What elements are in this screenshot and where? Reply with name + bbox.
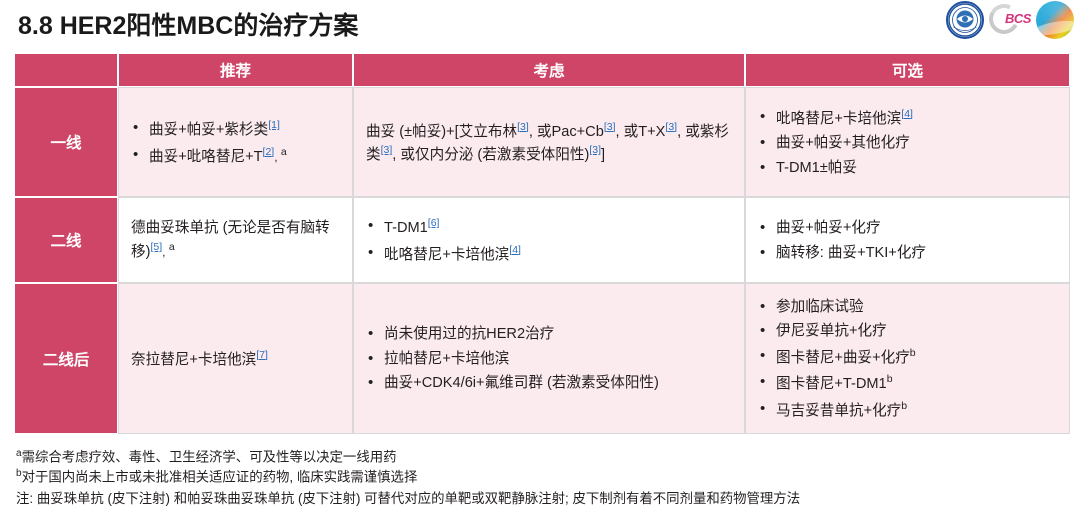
footnote-marker: b	[901, 400, 907, 412]
page-title: 8.8 HER2阳性MBC的治疗方案	[18, 6, 358, 42]
list-item: 参加临床试验	[758, 297, 1057, 319]
header-stage	[14, 53, 118, 87]
row-stage-label: 二线后	[14, 283, 118, 434]
bullet-list: 尚未使用过的抗HER2治疗 拉帕替尼+卡培他滨 曲妥+CDK4/6i+氟维司群 …	[366, 324, 732, 395]
list-item: T-DM1[6]	[366, 216, 732, 239]
reference-marker: [3]	[604, 121, 616, 133]
list-item: 图卡替尼+曲妥+化疗b	[758, 346, 1057, 369]
list-item: 马吉妥昔单抗+化疗b	[758, 399, 1057, 422]
header-optional: 可选	[745, 53, 1070, 87]
list-item: 曲妥+帕妥+紫杉类[1]	[131, 118, 340, 141]
recommended-paragraph: 德曲妥珠单抗 (无论是否有脑转移)[5], a	[131, 218, 340, 263]
bcs-logo: BCS	[989, 1, 1031, 39]
bullet-list: 曲妥+帕妥+紫杉类[1] 曲妥+吡咯替尼+T[2], a	[131, 118, 340, 168]
bcs-logo-label: BCS	[1005, 11, 1031, 26]
table-row: 二线 德曲妥珠单抗 (无论是否有脑转移)[5], a T-DM1[6] 吡咯替尼…	[14, 197, 1070, 283]
list-item: 曲妥+帕妥+其他化疗	[758, 133, 1057, 155]
cell-consider: 曲妥 (±帕妥)+[艾立布林[3], 或Pac+Cb[3], 或T+X[3], …	[353, 87, 745, 197]
footnote-marker: a	[281, 146, 287, 158]
bullet-list: T-DM1[6] 吡咯替尼+卡培他滨[4]	[366, 216, 732, 266]
header-consider: 考虑	[353, 53, 745, 87]
logo-group: BCS	[946, 1, 1074, 39]
footnotes-block: a需综合考虑疗效、毒性、卫生经济学、可及性等以决定一线用药 b对于国内尚未上市或…	[16, 447, 1066, 486]
reference-marker: [3]	[517, 121, 529, 133]
reference-marker: [3]	[665, 121, 677, 133]
title-bar: 8.8 HER2阳性MBC的治疗方案 BCS	[0, 0, 1080, 52]
treatment-table: 推荐 考虑 可选 一线 曲妥+帕妥+紫杉类[1] 曲妥+吡咯替尼+T[2], a…	[14, 53, 1070, 434]
reference-marker: [3]	[589, 144, 601, 156]
reference-marker: [6]	[428, 217, 440, 229]
general-note: 注: 曲妥珠单抗 (皮下注射) 和帕妥珠曲妥珠单抗 (皮下注射) 可替代对应的单…	[16, 490, 800, 509]
list-item: 吡咯替尼+卡培他滨[4]	[366, 243, 732, 266]
footnote-marker: b	[887, 373, 893, 385]
cell-recommended: 奈拉替尼+卡培他滨[7]	[118, 283, 353, 434]
cell-optional: 曲妥+帕妥+化疗 脑转移: 曲妥+TKI+化疗	[745, 197, 1070, 283]
cell-recommended: 德曲妥珠单抗 (无论是否有脑转移)[5], a	[118, 197, 353, 283]
list-item: 图卡替尼+T-DM1b	[758, 372, 1057, 395]
reference-marker: [3]	[381, 144, 393, 156]
cell-recommended: 曲妥+帕妥+紫杉类[1] 曲妥+吡咯替尼+T[2], a	[118, 87, 353, 197]
reference-marker: [7]	[256, 349, 268, 361]
reference-marker: [4]	[509, 244, 521, 256]
bullet-list: 吡咯替尼+卡培他滨[4] 曲妥+帕妥+其他化疗 T-DM1±帕妥	[758, 107, 1057, 180]
consider-paragraph: 曲妥 (±帕妥)+[艾立布林[3], 或Pac+Cb[3], 或T+X[3], …	[366, 120, 732, 167]
bullet-list: 曲妥+帕妥+化疗 脑转移: 曲妥+TKI+化疗	[758, 218, 1057, 264]
list-item: 吡咯替尼+卡培他滨[4]	[758, 107, 1057, 130]
caca-emblem-logo	[946, 1, 984, 39]
table-row: 一线 曲妥+帕妥+紫杉类[1] 曲妥+吡咯替尼+T[2], a 曲妥 (±帕妥)…	[14, 87, 1070, 197]
recommended-paragraph: 奈拉替尼+卡培他滨[7]	[131, 348, 340, 371]
list-item: 伊尼妥单抗+化疗	[758, 321, 1057, 343]
reference-marker: [1]	[268, 119, 280, 131]
cell-optional: 参加临床试验 伊尼妥单抗+化疗 图卡替尼+曲妥+化疗b 图卡替尼+T-DM1b …	[745, 283, 1070, 434]
list-item: 曲妥+帕妥+化疗	[758, 218, 1057, 240]
table-row: 二线后 奈拉替尼+卡培他滨[7] 尚未使用过的抗HER2治疗 拉帕替尼+卡培他滨…	[14, 283, 1070, 434]
footnote-a: a需综合考虑疗效、毒性、卫生经济学、可及性等以决定一线用药	[16, 447, 1066, 467]
footnote-marker: a	[169, 241, 175, 253]
header-recommended: 推荐	[118, 53, 353, 87]
row-stage-label: 一线	[14, 87, 118, 197]
cell-optional: 吡咯替尼+卡培他滨[4] 曲妥+帕妥+其他化疗 T-DM1±帕妥	[745, 87, 1070, 197]
reference-marker: [4]	[901, 108, 913, 120]
row-stage-label: 二线	[14, 197, 118, 283]
list-item: T-DM1±帕妥	[758, 158, 1057, 180]
footnote-marker: b	[910, 347, 916, 359]
list-item: 曲妥+CDK4/6i+氟维司群 (若激素受体阳性)	[366, 373, 732, 395]
table-header-row: 推荐 考虑 可选	[14, 53, 1070, 87]
reference-marker: [5]	[150, 241, 162, 253]
cell-consider: 尚未使用过的抗HER2治疗 拉帕替尼+卡培他滨 曲妥+CDK4/6i+氟维司群 …	[353, 283, 745, 434]
list-item: 尚未使用过的抗HER2治疗	[366, 324, 732, 346]
cell-consider: T-DM1[6] 吡咯替尼+卡培他滨[4]	[353, 197, 745, 283]
gradient-wave-logo	[1036, 1, 1074, 39]
footnote-b: b对于国内尚未上市或未批准相关适应证的药物, 临床实践需谨慎选择	[16, 467, 1066, 487]
list-item: 曲妥+吡咯替尼+T[2], a	[131, 145, 340, 168]
reference-marker: [2]	[263, 146, 275, 158]
bullet-list: 参加临床试验 伊尼妥单抗+化疗 图卡替尼+曲妥+化疗b 图卡替尼+T-DM1b …	[758, 297, 1057, 423]
list-item: 拉帕替尼+卡培他滨	[366, 349, 732, 371]
list-item: 脑转移: 曲妥+TKI+化疗	[758, 243, 1057, 265]
